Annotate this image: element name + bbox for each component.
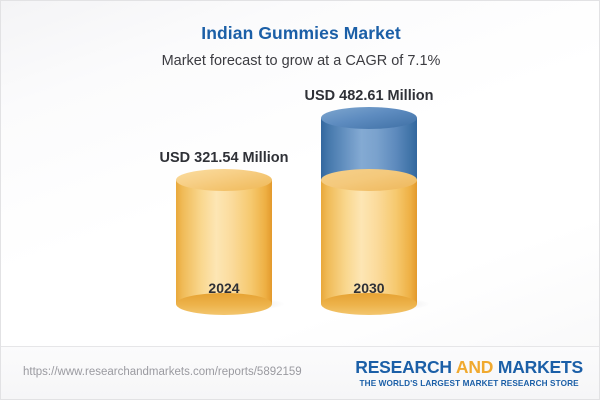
- page-title: Indian Gummies Market: [1, 23, 600, 44]
- cylinder-top-cap-2030: [321, 107, 417, 129]
- value-label-2024: USD 321.54 Million: [160, 150, 289, 166]
- cylinder-bottom-cap-2024: [176, 293, 272, 315]
- brand-name-and: AND: [456, 357, 498, 377]
- bar-group-2030: USD 482.61 Million 2030: [321, 118, 417, 304]
- brand-name-markets: MARKETS: [498, 357, 583, 377]
- infographic-card: Indian Gummies Market Market forecast to…: [0, 0, 600, 400]
- brand-tagline: THE WORLD'S LARGEST MARKET RESEARCH STOR…: [355, 379, 583, 388]
- chart-plot-area: USD 321.54 Million 2024 USD 482.61 Milli…: [1, 81, 600, 346]
- chart-subtitle: Market forecast to grow at a CAGR of 7.1…: [1, 53, 600, 69]
- cylinder-bottom-cap-2030: [321, 293, 417, 315]
- brand-name-research: RESEARCH: [355, 357, 456, 377]
- source-url-link[interactable]: https://www.researchandmarkets.com/repor…: [23, 366, 302, 378]
- bar-group-2024: USD 321.54 Million 2024: [176, 180, 272, 304]
- brand-name: RESEARCH AND MARKETS: [355, 357, 583, 378]
- axis-label-2024: 2024: [208, 280, 239, 296]
- cylinder-top-cap-2024: [176, 169, 272, 191]
- value-label-2030: USD 482.61 Million: [305, 88, 434, 104]
- brand-logo: RESEARCH AND MARKETS THE WORLD'S LARGEST…: [355, 357, 583, 388]
- footer: https://www.researchandmarkets.com/repor…: [1, 346, 600, 399]
- cylinder-segment-divider-2030: [321, 169, 417, 191]
- cylinder-2030: [321, 118, 417, 304]
- axis-label-2030: 2030: [353, 280, 384, 296]
